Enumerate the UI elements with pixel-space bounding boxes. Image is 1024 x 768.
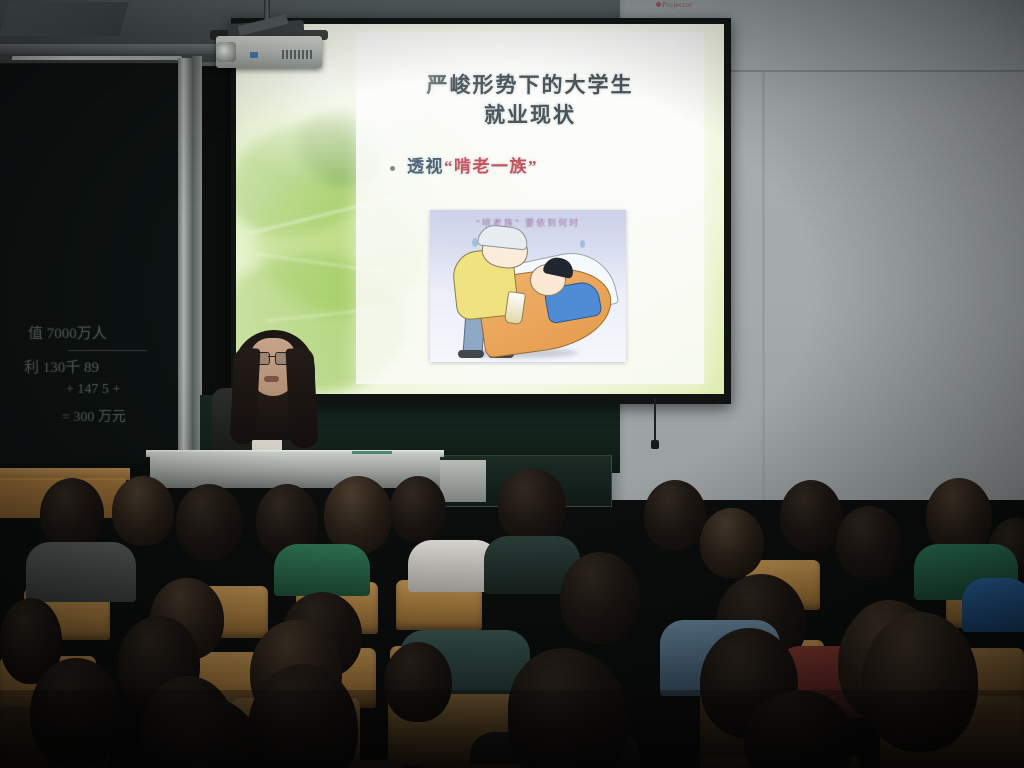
projector-vents [282,50,312,59]
audience-head [862,612,978,752]
cartoon-elder-shoe-left [458,350,484,358]
screen-pull-cord[interactable] [654,398,656,446]
wall-badge-dot-icon [656,2,661,7]
audience-head [700,508,764,578]
audience-head [324,476,392,554]
projector-lens-icon [216,42,236,62]
audience-head [560,552,640,644]
wall-badge-label: Projector [662,1,754,10]
audience-head [176,484,242,560]
chalk-fraction-rule [68,350,146,351]
slide-bullet-quoted: “啃老一族” [444,157,538,176]
audience-head [498,468,566,544]
audience-torso-gray [26,542,136,602]
blackboard-frame-rail [178,58,192,464]
audience-head [926,478,992,554]
audience-seating [0,470,1024,768]
cartoon-sweat-drop-1 [472,238,478,247]
wall-seam [762,70,765,500]
slide-cartoon-illustration: “啃老族” 要依到何时 [430,210,626,362]
left-blackboard-surface: 值 7000万人 利 130千 89 + 147 5 + = 300 万元 [0,64,178,456]
audience-head [644,480,706,550]
audience-head [40,478,104,550]
cartoon-sweat-drop-2 [580,240,585,248]
chalk-line-3: + 147 5 + [66,382,120,398]
bullet-dot-icon [390,166,395,171]
audience-torso-green [274,544,370,596]
presenter-hair-front-left [230,347,261,444]
slide-bullet-prefix: 透视 [407,157,444,176]
glasses-bridge [268,356,275,357]
lecture-hall-photo: Projector 值 7000万人 利 130千 89 + 147 5 + =… [0,0,1024,768]
audience-head [384,642,452,722]
audience-head [112,476,174,546]
chalk-line-4: = 300 万元 [62,406,126,426]
cartoon-caption: “啃老族” 要依到何时 [430,216,626,229]
audience-head [30,658,122,768]
slide-title-line-2: 就业现状 [366,100,694,130]
projector-indicator-led [250,52,258,58]
slide-title-line-1: 严峻形势下的大学生 [366,70,694,100]
presenter-hair-front-right [285,347,318,448]
audience-head [836,506,902,580]
audience-head [390,476,446,542]
chalk-line-1: 值 7000万人 [28,322,107,343]
audience-torso-blue [962,578,1024,632]
presenter-mouth [264,376,279,382]
slide-bullet-item: 透视“啃老一族” [390,152,690,177]
slide-title: 严峻形势下的大学生 就业现状 [366,70,694,130]
chalk-tray-marker [352,451,392,454]
chalk-line-2: 利 130千 89 [24,356,99,377]
seat[interactable] [880,762,1024,768]
projection-screen: 严峻形势下的大学生 就业现状 透视“啃老一族” “啃老族” 要依到何时 [236,24,724,394]
slide-content-panel: 严峻形势下的大学生 就业现状 透视“啃老一族” “啃老族” 要依到何时 [356,32,704,384]
screen-pull-cord-handle[interactable] [651,440,659,449]
audience-head [780,480,842,552]
ceiling-panel [0,2,129,36]
